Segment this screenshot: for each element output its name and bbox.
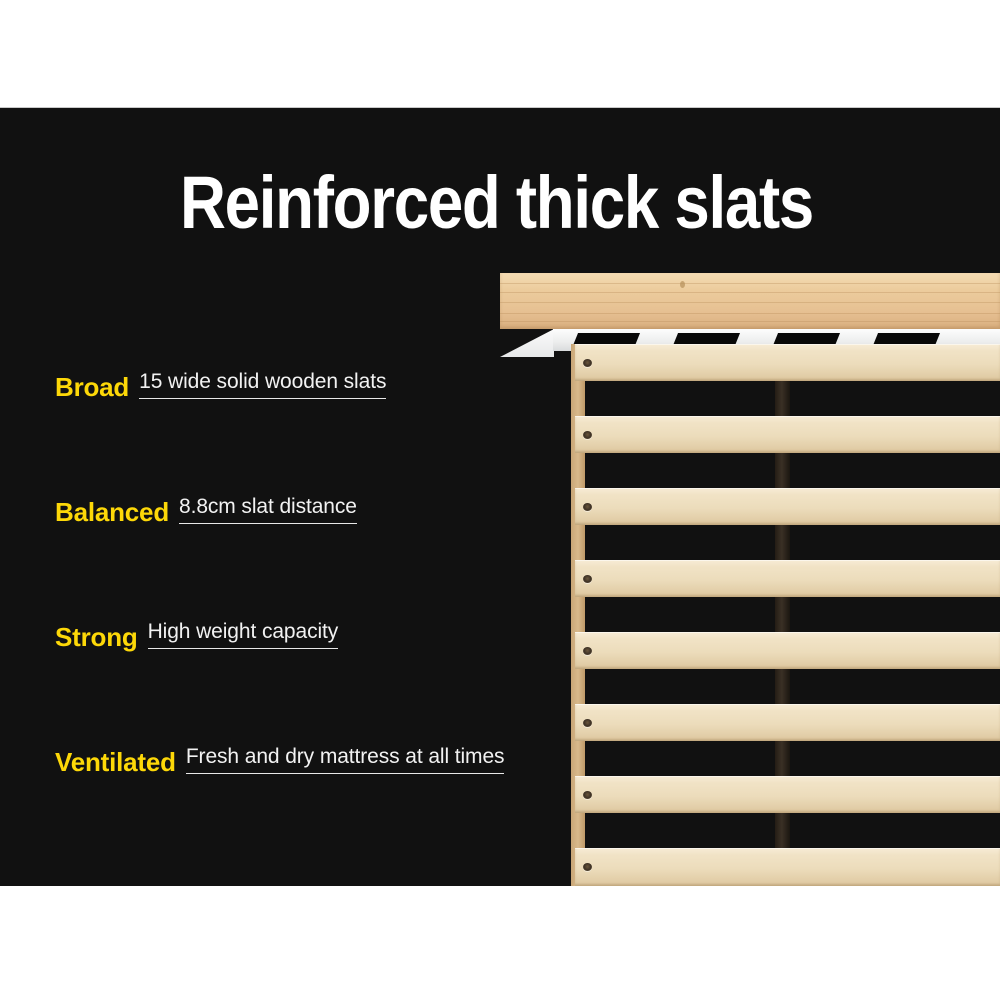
feature-description: High weight capacity xyxy=(148,620,339,649)
screw-head-icon xyxy=(583,647,592,655)
wooden-slat xyxy=(575,776,1000,813)
wood-grain-line xyxy=(500,283,1000,284)
feature-description: 8.8cm slat distance xyxy=(179,495,357,524)
wooden-slat xyxy=(575,632,1000,669)
screw-head-icon xyxy=(583,359,592,367)
wooden-slat xyxy=(575,704,1000,741)
feature-label: Broad xyxy=(55,374,129,400)
feature-row-strong: Strong High weight capacity xyxy=(55,620,338,650)
feature-description-wrap: 8.8cm slat distance xyxy=(179,495,357,525)
screw-head-icon xyxy=(583,575,592,583)
feature-description-wrap: High weight capacity xyxy=(148,620,339,650)
screw-head-icon xyxy=(583,791,592,799)
headboard-rail xyxy=(500,273,1000,329)
wood-grain-line xyxy=(500,302,1000,303)
product-feature-image: Reinforced thick slats Broad 15 wide sol… xyxy=(0,0,1000,1000)
wooden-slat xyxy=(575,848,1000,886)
feature-row-ventilated: Ventilated Fresh and dry mattress at all… xyxy=(55,745,504,775)
screw-head-icon xyxy=(583,503,592,511)
wood-grain-line xyxy=(500,292,1000,293)
feature-description-wrap: 15 wide solid wooden slats xyxy=(139,370,386,400)
wooden-slat xyxy=(575,416,1000,453)
wood-grain-line xyxy=(500,313,1000,314)
feature-description-wrap: Fresh and dry mattress at all times xyxy=(186,745,505,775)
wood-grain-line xyxy=(500,321,1000,322)
frame-corner-bevel xyxy=(500,329,554,357)
hero-black-panel: Reinforced thick slats Broad 15 wide sol… xyxy=(0,107,1000,886)
feature-row-broad: Broad 15 wide solid wooden slats xyxy=(55,370,386,400)
feature-label: Strong xyxy=(55,624,138,650)
screw-head-icon xyxy=(583,863,592,871)
feature-label: Ventilated xyxy=(55,749,176,775)
page-title: Reinforced thick slats xyxy=(180,166,782,240)
feature-description: Fresh and dry mattress at all times xyxy=(186,745,505,774)
screw-head-icon xyxy=(583,431,592,439)
feature-description: 15 wide solid wooden slats xyxy=(139,370,386,399)
wooden-slat xyxy=(575,560,1000,597)
wooden-slat xyxy=(575,344,1000,381)
screw-head-icon xyxy=(583,719,592,727)
wooden-slat xyxy=(575,488,1000,525)
feature-row-balanced: Balanced 8.8cm slat distance xyxy=(55,495,357,525)
feature-label: Balanced xyxy=(55,499,169,525)
